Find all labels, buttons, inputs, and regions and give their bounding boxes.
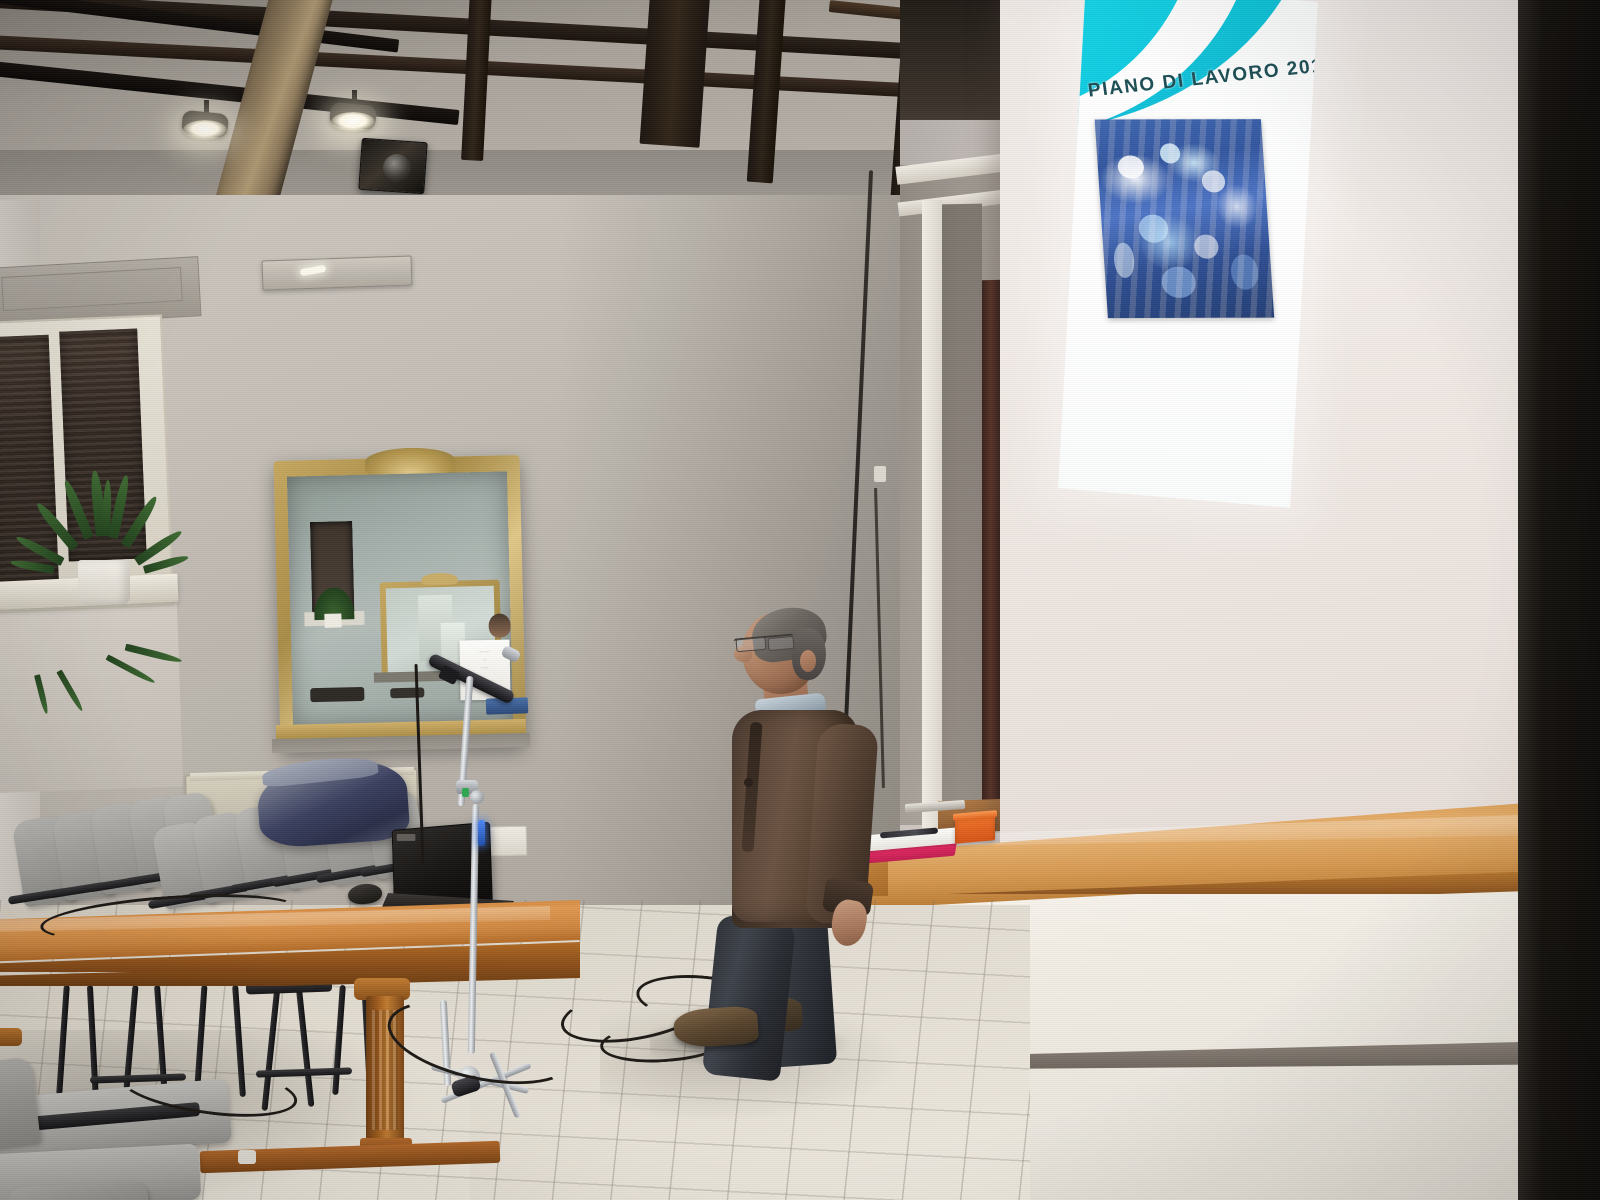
blue-led-indicator — [478, 820, 485, 846]
presenter-shoe-front — [673, 1005, 759, 1049]
presenter-ear — [800, 650, 816, 672]
reflected-mirror-crest-icon — [421, 573, 457, 586]
eyeglasses-lens — [735, 637, 766, 653]
eyeglasses-lens — [767, 636, 794, 651]
chair-leg — [332, 985, 346, 1095]
reflected-flower-pot — [324, 613, 341, 627]
spotlight-glow-icon — [183, 120, 227, 140]
presenter-leg-front — [702, 914, 796, 1081]
cable-clip — [874, 466, 886, 482]
reflected-dark-object — [310, 687, 364, 702]
ceiling-beam — [640, 0, 710, 148]
door-jamb — [922, 200, 942, 828]
chair-leg — [296, 985, 315, 1107]
reflected-dark-object — [390, 687, 424, 698]
cable-plug — [238, 1150, 256, 1164]
spider-plant — [44, 468, 164, 568]
trailing-plant-leaves — [26, 585, 146, 675]
doorway-opening[interactable] — [942, 204, 982, 825]
table-leg-capital — [0, 1028, 22, 1046]
spotlight-glow-icon — [331, 112, 375, 132]
slide-photo — [1095, 119, 1275, 318]
microphone-stand-adjust-knob[interactable] — [470, 790, 484, 804]
photo-scene: ······· ·· ····· PIANO DI LAVORO 2017 — [0, 0, 1600, 1200]
projected-slide: PIANO DI LAVORO 2017 — [1058, 0, 1318, 508]
green-led-indicator — [462, 788, 469, 797]
laptop-logo-icon — [397, 834, 416, 841]
wall-light-fixture[interactable] — [262, 255, 413, 290]
door-leaf[interactable] — [982, 280, 1002, 825]
chair-leg — [56, 985, 70, 1095]
sweater-button — [744, 778, 753, 787]
reflected-person-head — [488, 613, 511, 638]
chair-leg — [87, 985, 99, 1105]
presenter — [660, 612, 890, 1052]
slide-canvas: PIANO DI LAVORO 2017 — [1058, 0, 1318, 508]
right-edge-dark-band — [1518, 0, 1600, 1200]
